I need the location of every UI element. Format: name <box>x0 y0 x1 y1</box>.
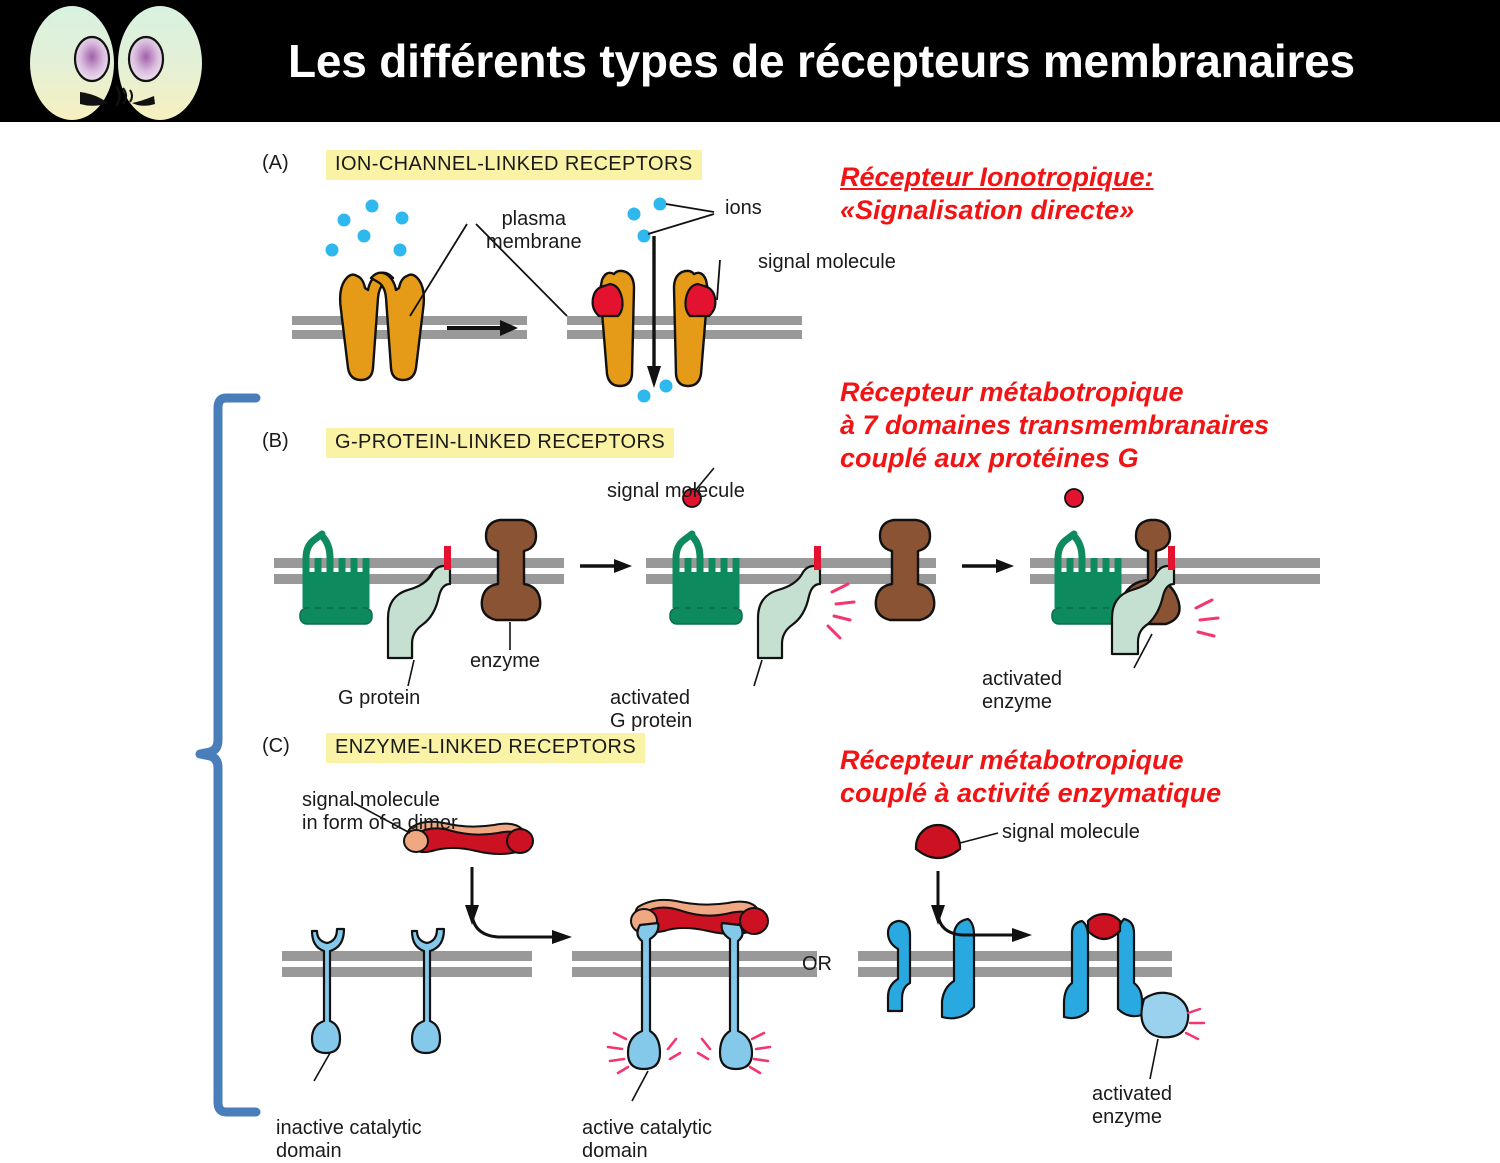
rtk-inactive-pair <box>282 929 532 1081</box>
panel-c-letter: (C) <box>262 735 290 758</box>
page-title: Les différents types de récepteurs membr… <box>288 34 1355 88</box>
signal-binding-arrow <box>931 871 1032 942</box>
panel-a-title: ION-CHANNEL-LINKED RECEPTORS <box>326 150 702 180</box>
gpcr-stage-3 <box>1030 489 1320 668</box>
label-signal-dimer-l2: in form of a dimer <box>302 812 458 835</box>
panel-c-title: ENZYME-LINKED RECEPTORS <box>326 733 645 763</box>
spark-icon <box>1186 1009 1204 1039</box>
label-activated-g-protein-l1: activated <box>610 687 692 710</box>
label-activated-enzyme-c: activated enzyme <box>1092 1083 1172 1129</box>
label-signal-dimer: signal molecule in form of a dimer <box>302 789 458 835</box>
signal-molecule-half-disc <box>916 825 960 858</box>
label-activated-g-protein: activated G protein <box>610 687 692 733</box>
panel-g-protein: (B) G-PROTEIN-LINKED RECEPTORS <box>262 428 1162 718</box>
panel-a-letter: (A) <box>262 152 289 175</box>
panel-ion-channel: (A) ION-CHANNEL-LINKED RECEPTORS <box>262 150 822 400</box>
transition-arrow-b2 <box>962 559 1014 573</box>
panel-b-letter: (B) <box>262 430 289 453</box>
annotation-ionotropic: Récepteur Ionotropique: «Signalisation d… <box>840 161 1154 227</box>
signal-molecule-leader-a <box>717 260 720 300</box>
annotation-ionotropic-line1: Récepteur Ionotropique: <box>840 161 1154 194</box>
label-enzyme: enzyme <box>470 650 540 673</box>
ion-flow-arrow <box>647 236 661 388</box>
label-activated-enzyme-c-l2: enzyme <box>1092 1106 1172 1129</box>
spark-icon <box>828 584 854 638</box>
label-plasma-membrane-l1: plasma <box>486 208 582 231</box>
annotation-ionotropic-line2: «Signalisation directe» <box>840 194 1154 227</box>
label-signal-molecule-a: signal molecule <box>758 251 896 274</box>
rtk-or-active <box>1052 914 1204 1079</box>
label-plasma-membrane-l2: membrane <box>486 231 582 254</box>
closed-ion-channel <box>340 273 424 380</box>
label-inactive-catalytic-domain-l2: domain <box>276 1140 422 1163</box>
label-inactive-catalytic-domain-l1: inactive catalytic <box>276 1117 422 1140</box>
label-signal-dimer-l1: signal molecule <box>302 789 458 812</box>
dimer-binding-arrow <box>465 867 572 944</box>
label-plasma-membrane: plasma membrane <box>486 208 582 254</box>
label-activated-enzyme-b: activated enzyme <box>982 668 1062 714</box>
label-or: OR <box>802 953 832 976</box>
label-activated-g-protein-l2: G protein <box>610 710 692 733</box>
title-bar: Les différents types de récepteurs membr… <box>0 0 1500 122</box>
transition-arrow-b1 <box>580 559 632 573</box>
two-talking-cells-logo <box>22 4 222 122</box>
ions-cloud-right-top <box>628 198 667 243</box>
label-signal-molecule-b: signal molecule <box>607 480 745 503</box>
spark-icon <box>1196 600 1218 636</box>
label-g-protein: G protein <box>338 687 420 710</box>
label-active-catalytic-domain: active catalytic domain <box>582 1117 712 1163</box>
label-ions: ions <box>725 197 762 220</box>
annotation-gpcr-line1: Récepteur métabotropique <box>840 376 1269 409</box>
label-active-catalytic-domain-l1: active catalytic <box>582 1117 712 1140</box>
label-activated-enzyme-b-l2: enzyme <box>982 691 1062 714</box>
label-activated-enzyme-c-l1: activated <box>1092 1083 1172 1106</box>
panel-b-title: G-PROTEIN-LINKED RECEPTORS <box>326 428 674 458</box>
rtk-active-dimer <box>572 900 817 1101</box>
label-activated-enzyme-b-l1: activated <box>982 668 1062 691</box>
label-signal-molecule-c: signal molecule <box>1002 821 1140 844</box>
ions-cloud-left <box>326 200 409 257</box>
label-inactive-catalytic-domain: inactive catalytic domain <box>276 1117 422 1163</box>
signal-molecule-leader-c <box>960 833 998 843</box>
metabotropic-bracket <box>196 392 268 1118</box>
panel-enzyme-linked: (C) ENZYME-LINKED RECEPTORS <box>262 733 1172 1118</box>
label-active-catalytic-domain-l2: domain <box>582 1140 712 1163</box>
